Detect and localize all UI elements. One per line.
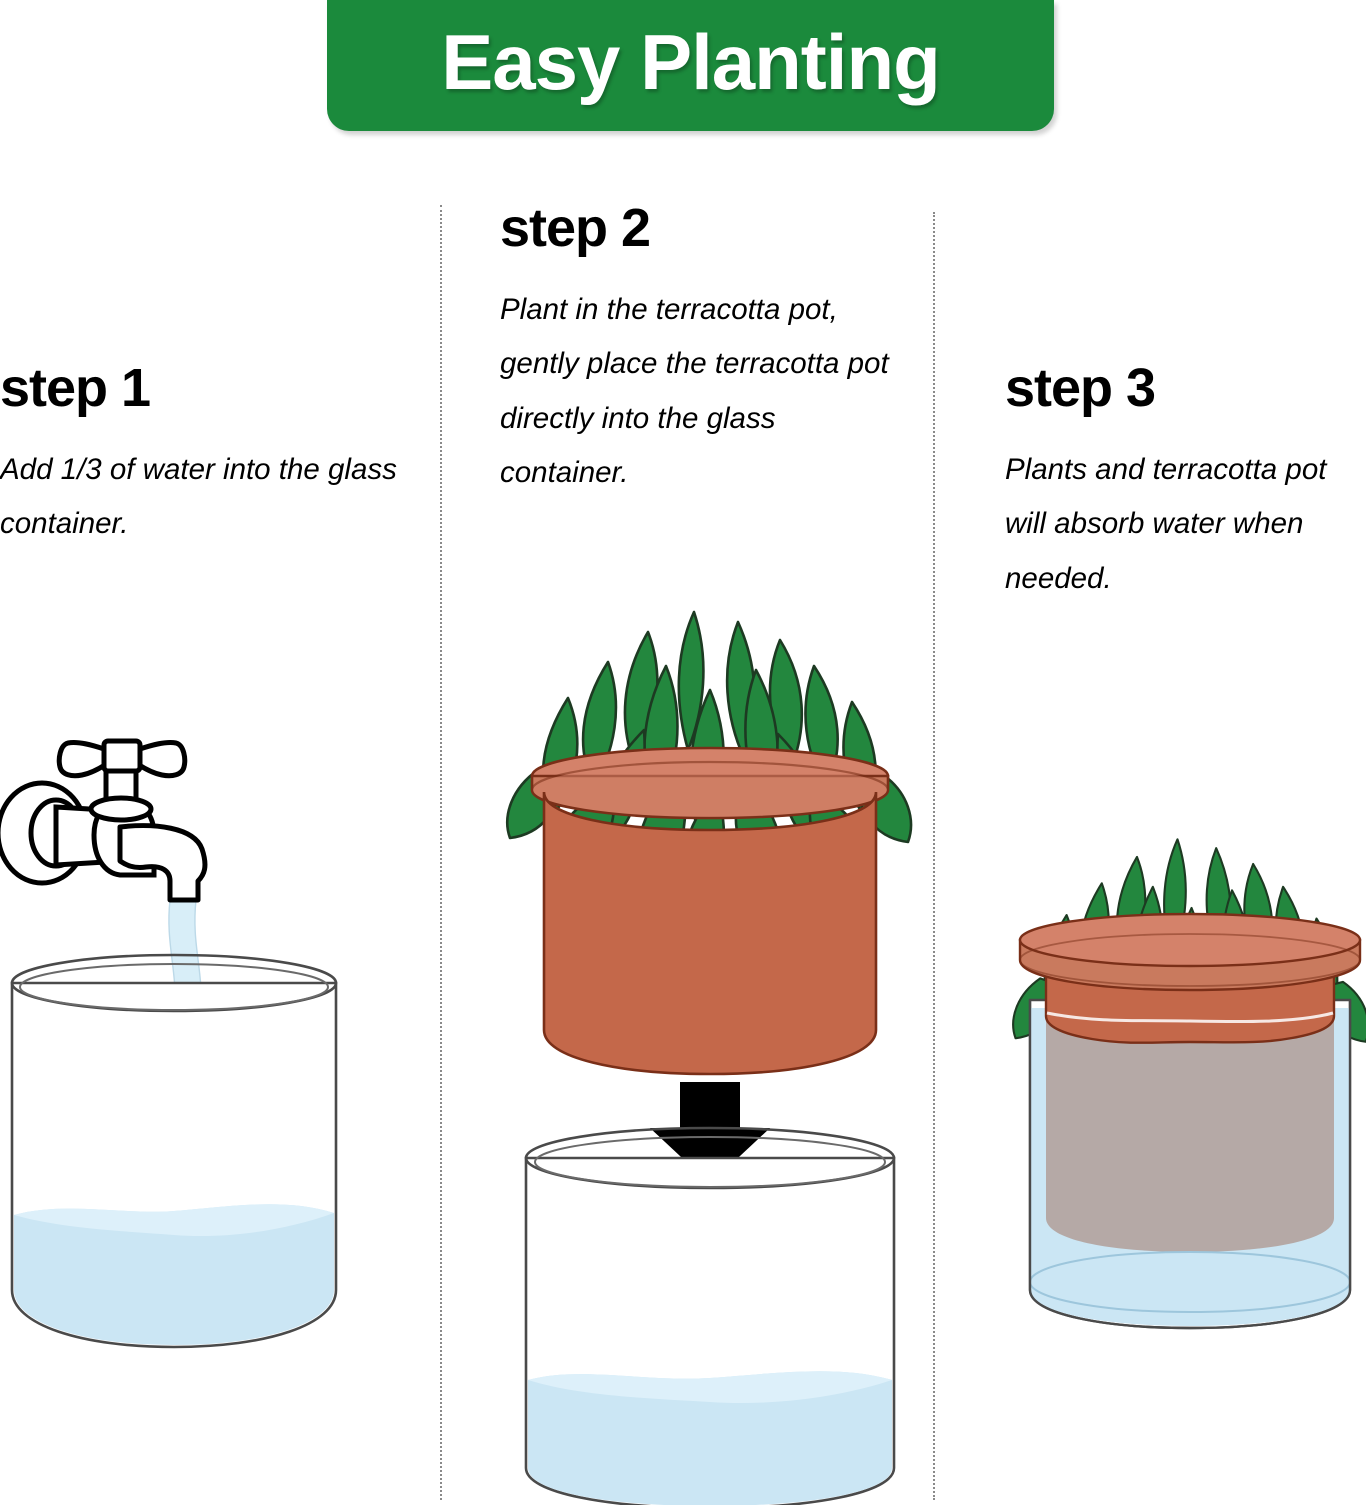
step-1-heading: step 1 xyxy=(0,360,400,417)
terracotta-pot-rim-top xyxy=(1020,914,1360,966)
faucet-collar-icon xyxy=(91,798,151,820)
step-1-body: Add 1/3 of water into the glass containe… xyxy=(0,443,400,552)
column-divider-2 xyxy=(933,212,935,1500)
title-banner: Easy Planting xyxy=(327,0,1054,131)
step-3-body: Plants and terracotta pot will absorb wa… xyxy=(1005,443,1366,607)
terracotta-pot-body xyxy=(544,792,876,1074)
faucet-handle-right-icon xyxy=(136,742,185,775)
faucet-handle-left-icon xyxy=(59,742,108,775)
step-3-text-block: step 3 Plants and terracotta pot will ab… xyxy=(1005,360,1366,606)
step-2-heading: step 2 xyxy=(500,200,900,257)
column-divider-1 xyxy=(440,205,442,1500)
step-1-illustration xyxy=(0,715,394,1415)
page-title: Easy Planting xyxy=(441,23,940,109)
terracotta-pot-rim-lower-lip xyxy=(532,762,888,818)
step-2-illustration xyxy=(498,590,918,1505)
step-3-heading: step 3 xyxy=(1005,360,1366,417)
step-2-body: Plant in the terracotta pot, gently plac… xyxy=(500,283,900,501)
step-2-text-block: step 2 Plant in the terracotta pot, gent… xyxy=(500,200,900,501)
faucet-handle-hub-icon xyxy=(104,741,140,771)
step-1-text-block: step 1 Add 1/3 of water into the glass c… xyxy=(0,360,400,552)
faucet-spout-icon xyxy=(120,826,205,900)
step-3-illustration xyxy=(1000,820,1366,1380)
